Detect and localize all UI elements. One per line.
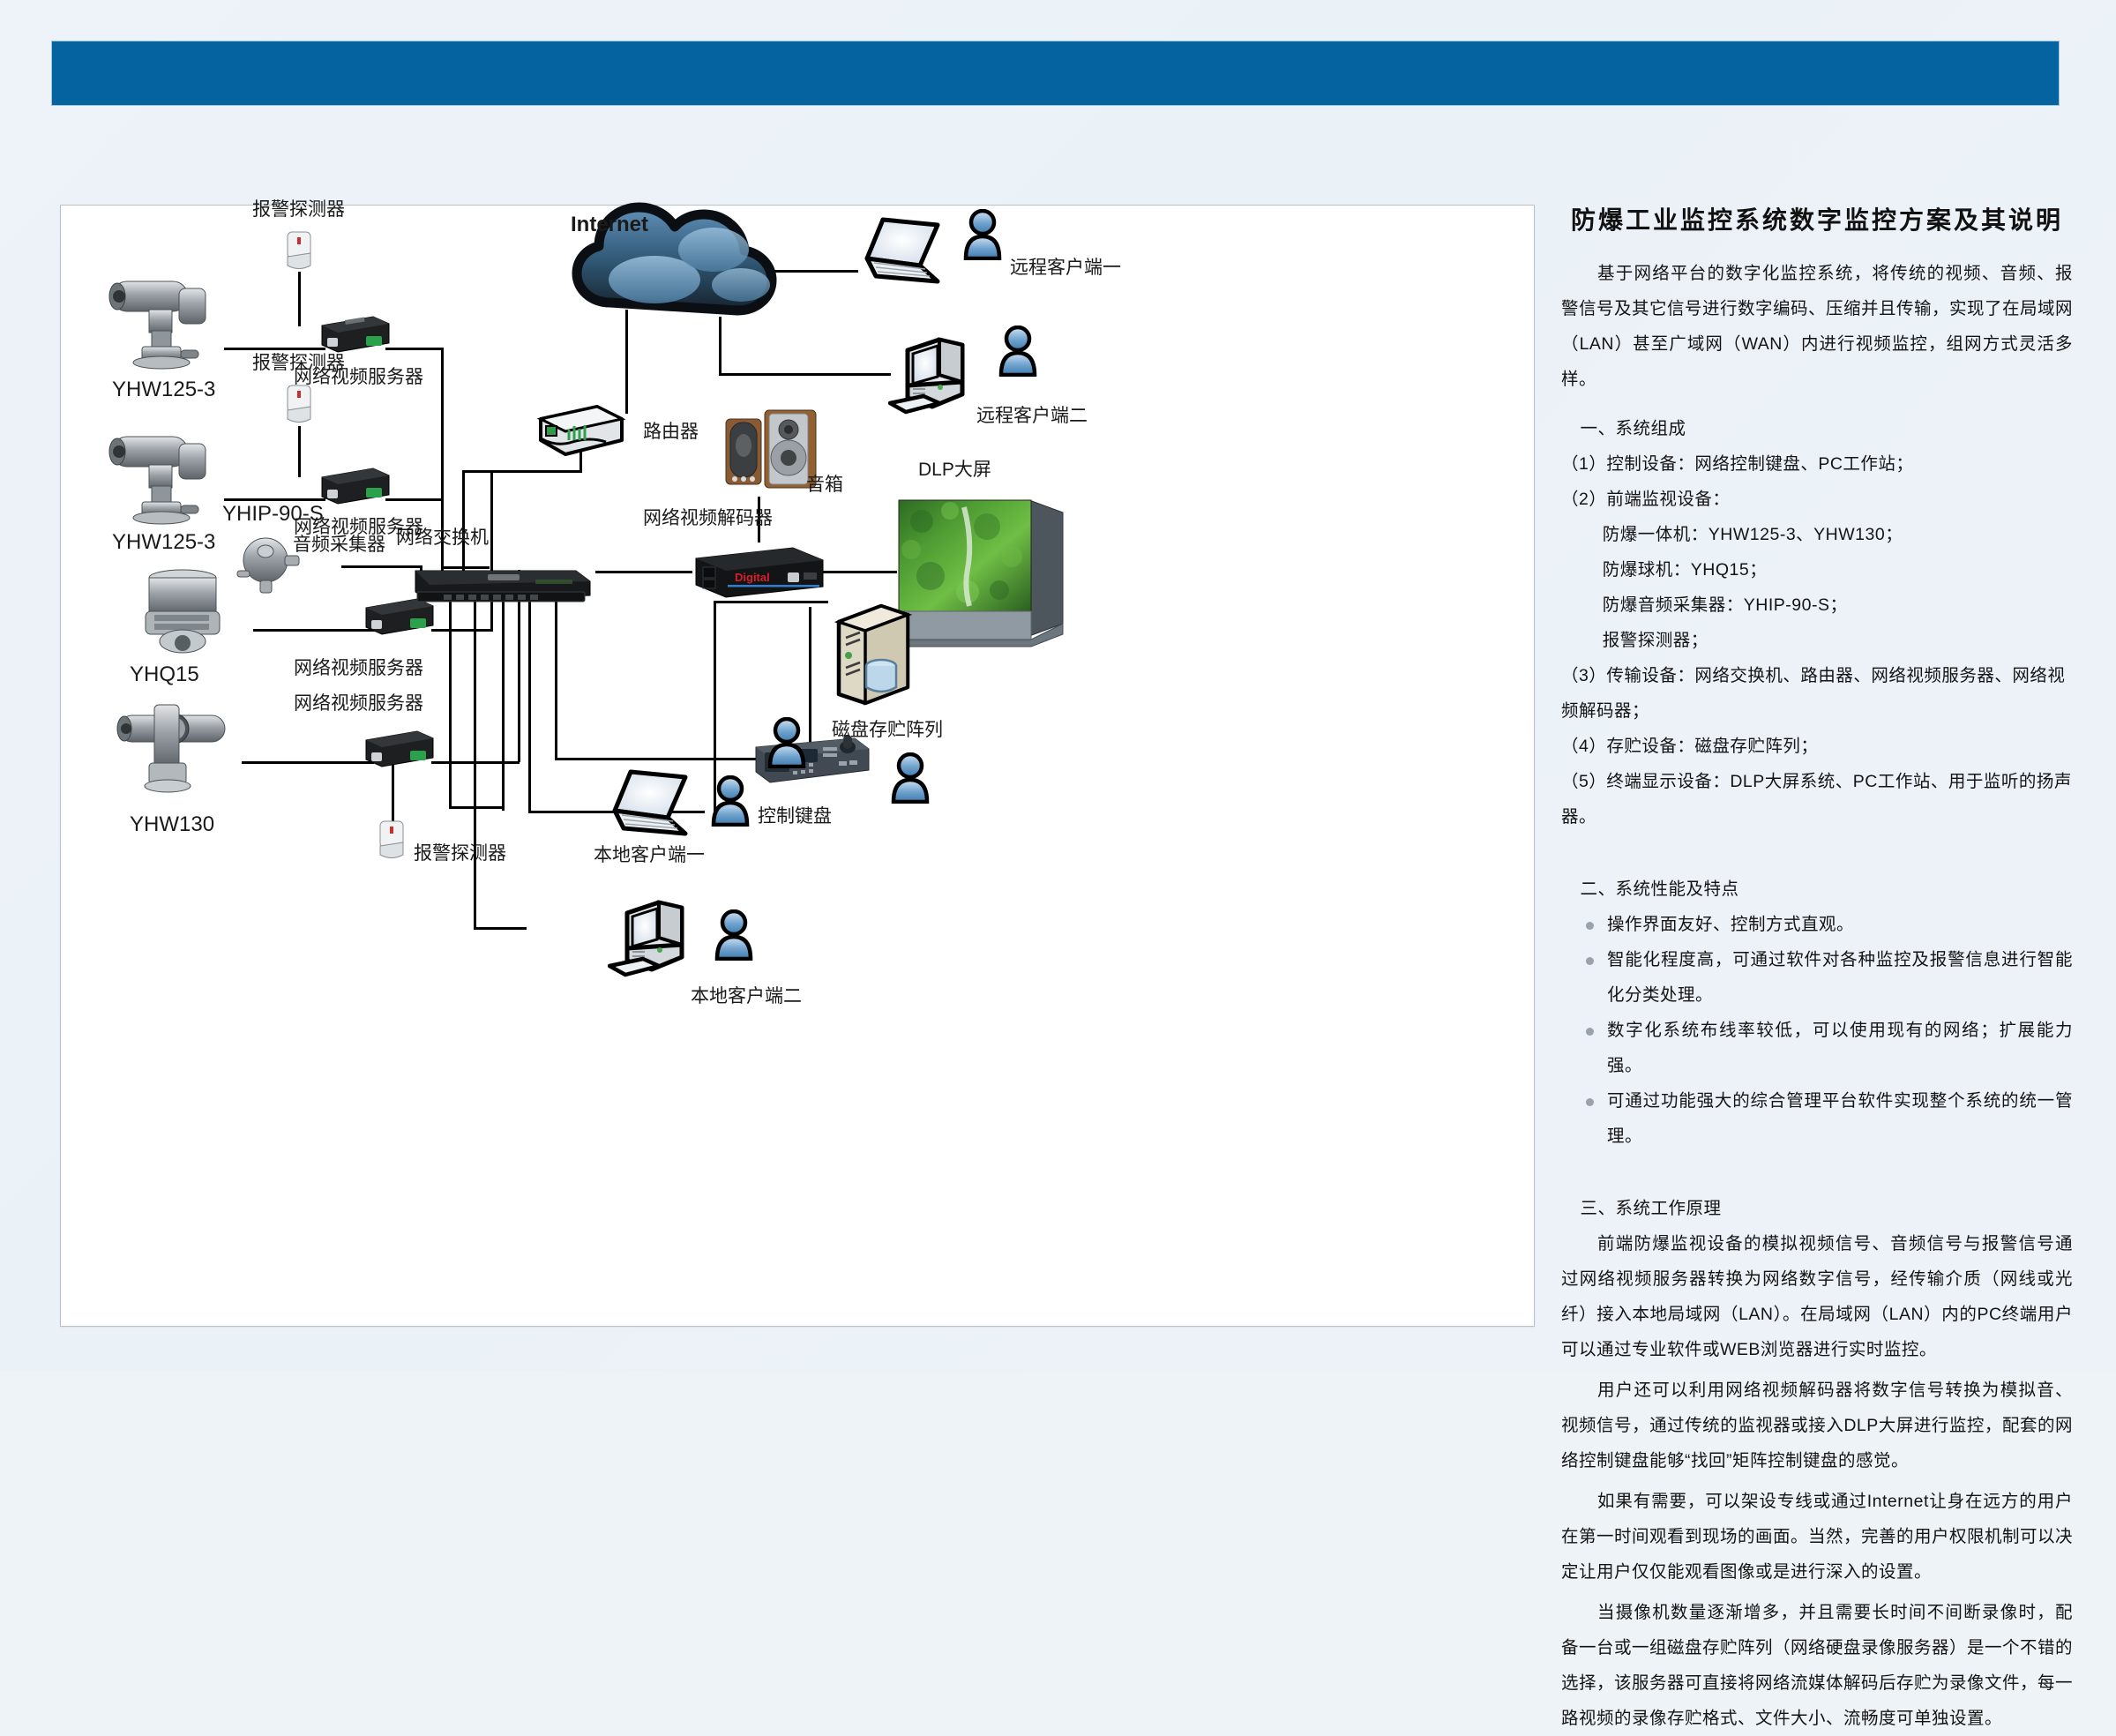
explosion-proof-camera-icon xyxy=(103,424,236,530)
remote-client-1-label: 远程客户端一 xyxy=(1010,253,1121,280)
spacer xyxy=(1561,1154,2073,1177)
desktop-computer-icon xyxy=(888,331,990,419)
section-3-heading: 三、系统工作原理 xyxy=(1561,1191,2073,1226)
explosion-proof-dome-camera-icon xyxy=(131,565,237,662)
speakers-icon xyxy=(722,407,819,495)
disk-array-label: 磁盘存贮阵列 xyxy=(832,715,943,742)
section-1-item-5: （5）终端显示设备：DLP大屏系统、PC工作站、用于监听的扬声器。 xyxy=(1561,764,2073,834)
switch-down-4 xyxy=(528,601,531,812)
link-decoder-dlp xyxy=(819,571,897,573)
svg-text:Digital: Digital xyxy=(735,571,770,584)
alarm-detector-3-label: 报警探测器 xyxy=(414,839,506,865)
alarm-detector-1-label: 报警探测器 xyxy=(252,195,345,221)
section-1-item-2: （2）前端监视设备： xyxy=(1561,482,2073,517)
link-switch-router-h xyxy=(462,470,581,473)
desktop-computer-icon xyxy=(608,894,709,982)
switch-down-1 xyxy=(449,601,452,808)
alarm-detector-icon xyxy=(284,384,314,426)
switch-down-5 xyxy=(555,601,557,759)
network-switch-icon xyxy=(403,558,597,611)
header-blue-band xyxy=(51,41,2060,106)
user-avatar-icon xyxy=(890,752,931,804)
camera-4-label: YHW130 xyxy=(130,812,214,837)
video-server-4-label: 网络视频服务器 xyxy=(294,689,423,715)
internet-label: Internet xyxy=(571,213,648,237)
section-2-heading: 二、系统性能及特点 xyxy=(1561,872,2073,907)
feature-item: 可通过功能强大的综合管理平台软件实现整个系统的统一管理。 xyxy=(1581,1083,2073,1154)
section-3-paragraph-3: 如果有需要，可以架设专线或通过Internet让身在远方的用户在第一时间观看到现… xyxy=(1561,1484,2073,1590)
section-1-item-4: （4）存贮设备：磁盘存贮阵列； xyxy=(1561,729,2073,764)
link-alarm2-to-server2 xyxy=(298,426,301,477)
section-1-item-1: （1）控制设备：网络控制键盘、PC工作站； xyxy=(1561,446,2073,482)
camera-3-label: YHQ15 xyxy=(130,662,199,687)
video-server-3-label: 网络视频服务器 xyxy=(294,654,423,680)
link-server3-out xyxy=(431,629,493,632)
section-1-sub-1: 防爆一体机：YHW125-3、YHW130； xyxy=(1561,517,2073,552)
camera-2-label: YHW125-3 xyxy=(112,530,215,555)
laptop-icon xyxy=(604,767,701,846)
explosion-proof-camera-icon xyxy=(103,269,236,375)
network-video-server-icon xyxy=(317,465,393,505)
user-avatar-icon xyxy=(766,717,807,768)
router-icon xyxy=(530,401,632,463)
network-diagram-panel: Internet YHW125-3 xyxy=(60,205,1535,1327)
spacer xyxy=(1561,834,2073,857)
section-3-paragraph-4: 当摄像机数量逐渐增多，并且需要长时间不间断录像时，配备一台或一组磁盘存贮阵列（网… xyxy=(1561,1595,2073,1736)
network-video-decoder-icon: Digital xyxy=(689,541,830,604)
network-video-server-icon xyxy=(361,728,437,768)
link-cam4-to-server4 xyxy=(242,761,374,764)
local-client-1-label: 本地客户端一 xyxy=(594,841,705,867)
description-column: 防爆工业监控系统数字监控方案及其说明 基于网络平台的数字化监控系统，将传统的视频… xyxy=(1561,201,2073,1348)
link-alarm1-to-server1 xyxy=(298,272,301,326)
dlp-label: DLP大屏 xyxy=(918,455,991,482)
laptop-icon xyxy=(856,214,953,294)
switch-down-3 xyxy=(502,601,505,811)
link-alarm3-up xyxy=(392,761,394,823)
section-1-sub-4: 报警探测器； xyxy=(1561,623,2073,658)
section-1-heading: 一、系统组成 xyxy=(1561,411,2073,446)
decoder-label: 网络视频解码器 xyxy=(643,504,773,530)
section-1-item-3: （3）传输设备：网络交换机、路由器、网络视频服务器、网络视频解码器； xyxy=(1561,658,2073,729)
camera-1-label: YHW125-3 xyxy=(112,378,215,402)
local-client-2-label: 本地客户端二 xyxy=(691,982,802,1008)
explosion-proof-ptz-camera-icon xyxy=(112,700,244,805)
user-avatar-icon xyxy=(714,909,754,961)
user-avatar-icon xyxy=(710,775,751,827)
page-background: Internet YHW125-3 xyxy=(0,0,2116,1372)
feature-item: 智能化程度高，可通过软件对各种监控及报警信息进行智能化分类处理。 xyxy=(1581,942,2073,1013)
speakers-label: 音箱 xyxy=(806,470,843,497)
feature-item: 操作界面友好、控制方式直观。 xyxy=(1581,907,2073,942)
user-avatar-icon xyxy=(962,209,1003,260)
alarm-detector-icon xyxy=(377,819,407,862)
intro-paragraph: 基于网络平台的数字化监控系统，将传统的视频、音频、报警信号及其它信号进行数字编码… xyxy=(1561,256,2073,397)
router-label: 路由器 xyxy=(643,417,699,444)
section-3-paragraph-2: 用户还可以利用网络视频解码器将数字信号转换为模拟音、视频信号，通过传统的监视器或… xyxy=(1561,1373,2073,1478)
switch-down-2h xyxy=(474,927,527,930)
network-video-server-icon xyxy=(317,313,393,354)
video-server-1-label: 网络视频服务器 xyxy=(294,363,423,389)
section-1-sub-3: 防爆音频采集器：YHIP-90-S； xyxy=(1561,587,2073,623)
feature-list: 操作界面友好、控制方式直观。 智能化程度高，可通过软件对各种监控及报警信息进行智… xyxy=(1561,907,2073,1154)
disk-storage-array-icon xyxy=(826,602,923,713)
remote-client-2-label: 远程客户端二 xyxy=(976,401,1088,428)
alarm-detector-icon xyxy=(284,230,314,273)
link-server1-out xyxy=(385,348,443,350)
link-server2-out xyxy=(385,498,443,501)
section-3-paragraph-1: 前端防爆监视设备的模拟视频信号、音频信号与报警信号通过网络视频服务器转换为网络数… xyxy=(1561,1226,2073,1367)
switch-down-2 xyxy=(474,601,476,929)
control-keyboard-label: 控制键盘 xyxy=(758,802,832,828)
switch-label: 网络交换机 xyxy=(396,523,489,550)
feature-item: 数字化系统布线率较低，可以使用现有的网络；扩展能力强。 xyxy=(1581,1013,2073,1083)
link-switch-decoder xyxy=(595,571,692,573)
document-title: 防爆工业监控系统数字监控方案及其说明 xyxy=(1561,201,2073,236)
section-1-sub-2: 防爆球机：YHQ15； xyxy=(1561,552,2073,587)
link-cloud-remote2-h xyxy=(719,373,891,376)
link-cam3-to-server3 xyxy=(253,629,377,632)
internet-cloud-icon xyxy=(559,181,789,353)
link-cam2-to-server2 xyxy=(224,498,325,501)
user-avatar-icon xyxy=(998,325,1038,377)
